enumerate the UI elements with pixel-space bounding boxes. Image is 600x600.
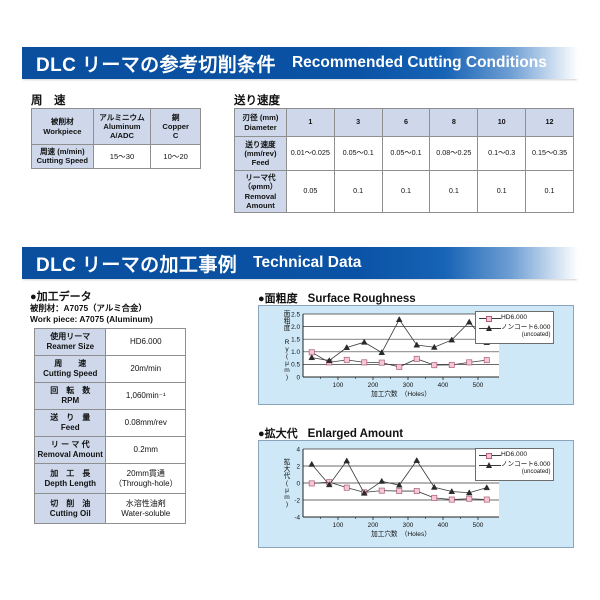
cell-header-copper: 銅 Copper C [151, 109, 201, 145]
cell-diameter-12: 12 [526, 109, 574, 137]
table-row: リーマ代 （φmm） Removal Amount 0.05 0.1 0.1 0… [235, 171, 574, 213]
chart1-title-jp: ●面粗度 [258, 293, 298, 305]
cell-rowhead-depth-length: 加 工 長 Depth Length [35, 464, 106, 494]
svg-text:(: ( [286, 480, 289, 487]
svg-text:400: 400 [438, 522, 449, 529]
chart2-title-en: Enlarged Amount [308, 428, 403, 440]
svg-text:m: m [284, 494, 290, 501]
cutting-speed-table: 被削材 Workpiece アルミニウム Aluminum A/ADC 銅 Co… [31, 108, 201, 169]
legend-item-coated: HD6.000 [479, 314, 550, 323]
svg-text:1.0: 1.0 [291, 349, 300, 356]
cell-diameter-10: 10 [478, 109, 526, 137]
svg-text:100: 100 [333, 382, 344, 389]
cell-header-workpiece: 被削材 Workpiece [32, 109, 94, 145]
workpiece-jp: 被削材：A7075（アルミ合金） [30, 303, 153, 314]
legend-triangle-marker-icon [479, 461, 501, 470]
table-row: リ ー マ 代 Removal Amount 0.2mm [35, 437, 186, 464]
cell-diameter-8: 8 [430, 109, 478, 137]
svg-text:500: 500 [473, 382, 484, 389]
cell-value-feed: 0.08mm/rev [106, 410, 186, 437]
cell-rowhead-rpm: 回 転 数 RPM [35, 383, 106, 410]
cell-header-aluminum: アルミニウム Aluminum A/ADC [93, 109, 151, 145]
chart1-legend: HD6.000 ノンコート6.000 (uncoated) [475, 311, 554, 344]
cell-rowhead-cutting-oil: 切 削 油 Cutting Oil [35, 494, 106, 524]
feed-table: 刃径 (mm) Diameter 1 3 6 8 10 12 送り速度 (mm/… [234, 108, 574, 213]
cell-rowhead-removal: リーマ代 （φmm） Removal Amount [235, 171, 287, 213]
svg-text:μ: μ [285, 360, 289, 367]
cell-speed-copper: 10〜20 [151, 145, 201, 169]
cell-feed-10: 0.1〜0.3 [478, 137, 526, 171]
legend-label-coated: HD6.000 [501, 451, 527, 459]
cell-value-rpm: 1,060min⁻¹ [106, 383, 186, 410]
table-row: 使用リーマ Reamer Size HD6.000 [35, 329, 186, 356]
cell-value-cutting-speed: 20m/min [106, 356, 186, 383]
cell-speed-aluminum: 15〜30 [93, 145, 151, 169]
legend-label-uncoated: ノンコート6.000 (uncoated) [501, 324, 550, 340]
cell-feed-1: 0.01〜0.025 [286, 137, 334, 171]
cell-diameter-3: 3 [334, 109, 382, 137]
svg-text:200: 200 [368, 382, 379, 389]
svg-text:): ) [286, 374, 288, 381]
chart2-legend: HD6.000 ノンコート6.000 (uncoated) [475, 448, 554, 481]
section-banner-cutting-conditions: DLC リーマの参考切削条件 Recommended Cutting Condi… [22, 47, 578, 79]
cell-rowhead-cutting-speed: 周 速 Cutting Speed [35, 356, 106, 383]
cell-removal-3: 0.1 [334, 171, 382, 213]
cell-diameter-1: 1 [286, 109, 334, 137]
chart2-title-jp: ●拡大代 [258, 428, 298, 440]
cell-diameter-6: 6 [382, 109, 430, 137]
legend-item-uncoated: ノンコート6.000 (uncoated) [479, 461, 550, 477]
svg-text:R: R [285, 339, 290, 346]
svg-text:加工穴数 （Holes）: 加工穴数 （Holes） [371, 389, 431, 398]
banner2-title-jp: DLC リーマの加工事例 [36, 250, 237, 277]
cell-removal-12: 0.1 [526, 171, 574, 213]
machining-data-table: 使用リーマ Reamer Size HD6.000 周 速 Cutting Sp… [34, 328, 186, 524]
cell-rowhead-reamer-size: 使用リーマ Reamer Size [35, 329, 106, 356]
cell-removal-1: 0.05 [286, 171, 334, 213]
table-row: 周速 (m/min) Cutting Speed 15〜30 10〜20 [32, 145, 201, 169]
banner2-title-en: Technical Data [253, 254, 361, 272]
table-row: 回 転 数 RPM 1,060min⁻¹ [35, 383, 186, 410]
svg-text:面: 面 [284, 310, 291, 318]
svg-text:200: 200 [368, 522, 379, 529]
workpiece-en: Work piece: A7075 (Aluminum) [30, 314, 153, 325]
legend-item-uncoated: ノンコート6.000 (uncoated) [479, 324, 550, 340]
svg-text:代: 代 [284, 471, 291, 480]
machining-data-title: ●加工データ [30, 288, 92, 304]
svg-text:粗: 粗 [284, 316, 291, 325]
cell-value-cutting-oil: 水溶性油剤 Water-soluble [106, 494, 186, 524]
table-row: 被削材 Workpiece アルミニウム Aluminum A/ADC 銅 Co… [32, 109, 201, 145]
table-row: 送り速度 (mm/rev) Feed 0.01〜0.025 0.05〜0.1 0… [235, 137, 574, 171]
svg-text:加工穴数 （Holes）: 加工穴数 （Holes） [371, 529, 431, 538]
cell-rowhead-cutting-speed: 周速 (m/min) Cutting Speed [32, 145, 94, 169]
svg-text:2.5: 2.5 [291, 311, 300, 318]
svg-text:大: 大 [284, 464, 291, 473]
table-row: 刃径 (mm) Diameter 1 3 6 8 10 12 [235, 109, 574, 137]
cell-feed-8: 0.08〜0.25 [430, 137, 478, 171]
cell-rowhead-diameter: 刃径 (mm) Diameter [235, 109, 287, 137]
cutting-speed-caption-jp: 周 速 [31, 95, 66, 107]
table-row: 加 工 長 Depth Length 20mm貫通 （Through-hole） [35, 464, 186, 494]
svg-text:): ) [286, 501, 288, 508]
svg-text:度: 度 [284, 323, 291, 332]
svg-text:m: m [284, 367, 290, 374]
cell-feed-3: 0.05〜0.1 [334, 137, 382, 171]
svg-text:y: y [285, 346, 289, 353]
cell-value-reamer-size: HD6.000 [106, 329, 186, 356]
chart-caption-surface-roughness: ●面粗度Surface Roughness [258, 290, 416, 306]
legend-label-coated: HD6.000 [501, 314, 527, 322]
table-row: 切 削 油 Cutting Oil 水溶性油剤 Water-soluble [35, 494, 186, 524]
table-row: 送 り 量 Feed 0.08mm/rev [35, 410, 186, 437]
svg-text:(: ( [286, 353, 289, 360]
cell-rowhead-removal-amount: リ ー マ 代 Removal Amount [35, 437, 106, 464]
svg-text:-4: -4 [294, 514, 300, 521]
svg-text:1.5: 1.5 [291, 337, 300, 344]
svg-text:0: 0 [296, 374, 300, 381]
legend-label-uncoated: ノンコート6.000 (uncoated) [501, 461, 550, 477]
svg-text:300: 300 [403, 522, 414, 529]
cell-value-removal-amount: 0.2mm [106, 437, 186, 464]
machining-data-subtitle: 被削材：A7075（アルミ合金） Work piece: A7075 (Alum… [30, 303, 153, 326]
svg-text:2: 2 [296, 463, 300, 470]
svg-text:μ: μ [285, 487, 289, 494]
section-banner-technical-data: DLC リーマの加工事例 Technical Data [22, 247, 578, 279]
cell-rowhead-feed: 送り速度 (mm/rev) Feed [235, 137, 287, 171]
svg-text:400: 400 [438, 382, 449, 389]
svg-text:0: 0 [296, 480, 300, 487]
svg-text:0.5: 0.5 [291, 362, 300, 369]
cell-rowhead-feed: 送 り 量 Feed [35, 410, 106, 437]
svg-text:-2: -2 [294, 497, 300, 504]
cell-removal-6: 0.1 [382, 171, 430, 213]
cell-feed-6: 0.05〜0.1 [382, 137, 430, 171]
cell-value-depth-length: 20mm貫通 （Through-hole） [106, 464, 186, 494]
svg-text:2.0: 2.0 [291, 324, 300, 331]
table-row: 周 速 Cutting Speed 20m/min [35, 356, 186, 383]
svg-text:300: 300 [403, 382, 414, 389]
legend-square-marker-icon [479, 314, 501, 323]
cell-removal-10: 0.1 [478, 171, 526, 213]
cell-removal-8: 0.1 [430, 171, 478, 213]
svg-text:100: 100 [333, 522, 344, 529]
chart1-title-en: Surface Roughness [308, 293, 416, 305]
svg-text:500: 500 [473, 522, 484, 529]
document-page: DLC リーマの参考切削条件 Recommended Cutting Condi… [0, 0, 600, 600]
chart-caption-enlarged-amount: ●拡大代Enlarged Amount [258, 425, 403, 441]
cell-feed-12: 0.15〜0.35 [526, 137, 574, 171]
svg-text:拡: 拡 [284, 457, 291, 466]
feed-caption-jp: 送り速度 [234, 95, 280, 107]
banner-title-jp: DLC リーマの参考切削条件 [36, 50, 276, 77]
banner-title-en: Recommended Cutting Conditions [292, 54, 547, 72]
svg-text:4: 4 [296, 446, 300, 453]
legend-item-coated: HD6.000 [479, 451, 550, 460]
legend-triangle-marker-icon [479, 324, 501, 333]
legend-square-marker-icon [479, 451, 501, 460]
